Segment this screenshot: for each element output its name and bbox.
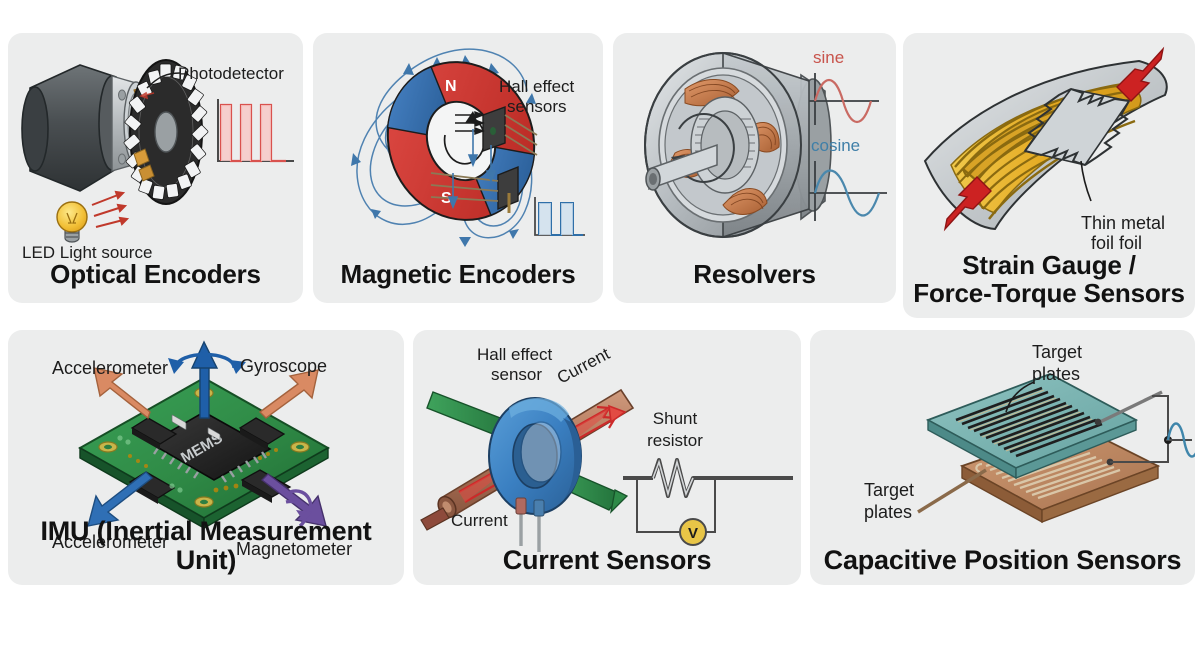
label-hall-effect-sensors-line1: Hall effect <box>499 77 575 96</box>
card-strain-gauge[interactable]: Thin metal foil foil Strain Gauge / Forc… <box>903 33 1195 318</box>
card-optical-encoders[interactable]: Photodetector LED Light source Optical E… <box>8 33 303 303</box>
label-current-bottom: Current <box>451 511 508 530</box>
label-shunt-resistor-line1: Shunt <box>653 409 698 428</box>
card-title-resolvers: Resolvers <box>613 261 896 289</box>
card-capacitive-position-sensors[interactable]: Target plates Target plates Capacitive P… <box>810 330 1195 585</box>
label-voltmeter: V <box>688 525 698 542</box>
label-hall-effect-sensor-line2: sensor <box>491 365 542 384</box>
label-sine: sine <box>813 48 844 67</box>
label-hall-effect-sensors-line2: sensors <box>507 97 567 116</box>
card-magnetic-encoders[interactable]: N S <box>313 33 603 303</box>
label-target-plates-top-line2: plates <box>1032 364 1080 384</box>
label-target-plates-bottom-line1: Target <box>864 480 914 500</box>
infographic-root: Photodetector LED Light source Optical E… <box>0 0 1200 650</box>
card-resolvers[interactable]: sine cosine Resolvers <box>613 33 896 303</box>
label-north-pole: N <box>445 78 457 95</box>
card-title-capacitive-position-sensors: Capacitive Position Sensors <box>810 546 1195 575</box>
card-title-strain-gauge: Strain Gauge / Force-Torque Sensors <box>903 252 1195 308</box>
card-title-current-sensors: Current Sensors <box>413 546 801 575</box>
card-current-sensors[interactable]: Hall effect sensor Current Current Shunt… <box>413 330 801 585</box>
label-photodetector: Photodetector <box>178 64 284 83</box>
label-gyroscope: Gyroscope <box>240 356 327 376</box>
card-title-magnetic-encoders: Magnetic Encoders <box>313 261 603 289</box>
label-hall-effect-sensor-line1: Hall effect <box>477 345 553 364</box>
label-target-plates-bottom-line2: plates <box>864 502 912 522</box>
label-accelerometer-top: Accelerometer <box>52 358 168 378</box>
label-target-plates-top-line1: Target <box>1032 342 1082 362</box>
label-current-top: Current <box>554 344 613 388</box>
label-cosine: cosine <box>811 136 860 155</box>
label-shunt-resistor-line2: resistor <box>647 431 703 450</box>
card-title-optical-encoders: Optical Encoders <box>8 261 303 289</box>
label-thin-metal-foil-line1: Thin metal <box>1081 213 1165 233</box>
card-imu[interactable]: MEMS <box>8 330 404 585</box>
card-title-imu: IMU (Inertial Measurement Unit) <box>8 517 404 575</box>
